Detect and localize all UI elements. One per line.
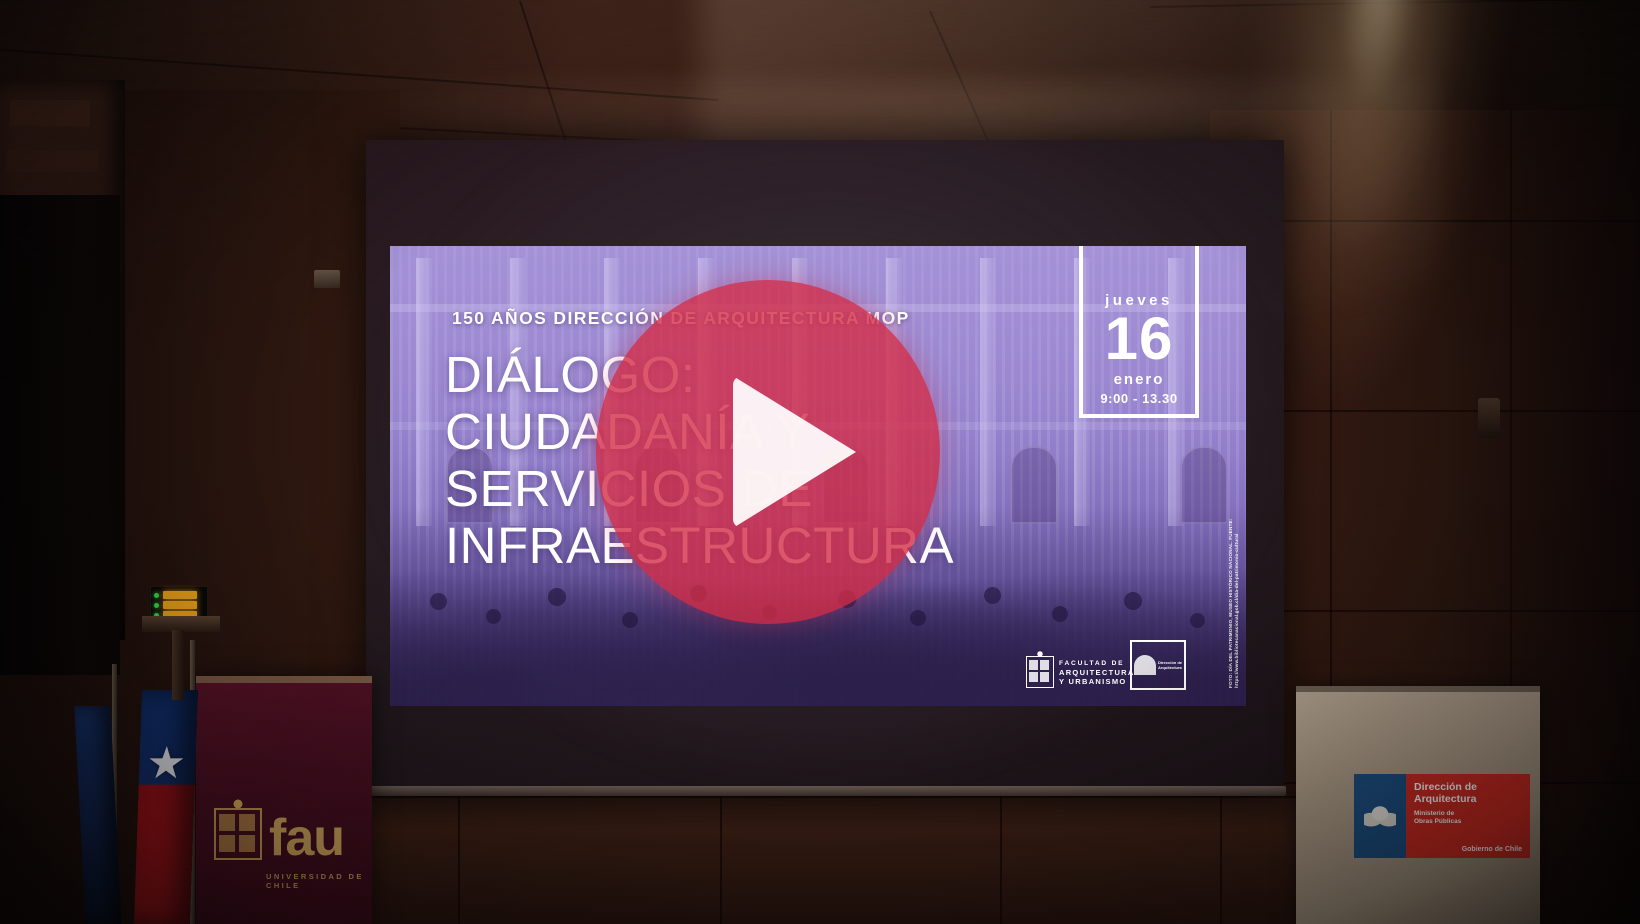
mop-logo-text-panel: Dirección de Arquitectura Ministerio de … bbox=[1406, 774, 1530, 858]
mop-slide-logo-text: Dirección de Arquitectura bbox=[1158, 660, 1182, 670]
mop-slide-logo-line-2: Arquitectura bbox=[1158, 665, 1182, 670]
indicator-bar bbox=[163, 601, 197, 609]
fau-wordmark: fau bbox=[269, 816, 344, 860]
fau-logo-line-2: ARQUITECTURA bbox=[1059, 668, 1135, 677]
status-led-icon bbox=[154, 603, 159, 608]
mop-slide-logo: Dirección de Arquitectura bbox=[1130, 640, 1186, 690]
screen-bottom-bar bbox=[364, 786, 1286, 796]
mop-title-line-2: Arquitectura bbox=[1414, 793, 1530, 805]
date-hours: 9:00 - 13.30 bbox=[1083, 391, 1195, 406]
screenshot-root: 150 AÑOS DIRECCIÓN DE ARQUITECTURA MOP D… bbox=[0, 0, 1640, 924]
universidad-de-chile-shield-icon bbox=[214, 808, 262, 860]
date-month: enero bbox=[1083, 371, 1195, 388]
gobierno-de-chile-logo: Dirección de Arquitectura Ministerio de … bbox=[1354, 774, 1530, 858]
dome-icon bbox=[1134, 655, 1156, 675]
fau-logo-line-3: Y URBANISMO bbox=[1059, 677, 1135, 686]
photo-credit-vertical: FOTO: DÍA DEL PATRIMONIO, MUSEO HISTÓRIC… bbox=[1228, 498, 1240, 688]
play-triangle-icon bbox=[733, 376, 856, 528]
mop-title-line-1: Dirección de bbox=[1414, 781, 1530, 793]
university-crest-icon bbox=[1026, 656, 1054, 688]
mop-pull-up-banner: Dirección de Arquitectura Ministerio de … bbox=[1296, 686, 1540, 924]
mop-subtitle-line-2: Obras Públicas bbox=[1414, 818, 1530, 826]
wall-speaker bbox=[1478, 398, 1500, 438]
date-day-number: 16 bbox=[1083, 311, 1195, 367]
coat-of-arms-icon bbox=[1364, 804, 1396, 828]
stage-curtain bbox=[0, 195, 120, 675]
podium-stem bbox=[172, 630, 184, 700]
status-led-icon bbox=[154, 593, 159, 598]
mop-subtitle-line-1: Ministerio de bbox=[1414, 810, 1530, 818]
fau-logo-line-1: FACULTAD DE bbox=[1059, 659, 1135, 668]
mop-footer: Gobierno de Chile bbox=[1462, 846, 1522, 853]
fau-logo-text: FACULTAD DE ARQUITECTURA Y URBANISMO bbox=[1059, 659, 1135, 686]
play-button[interactable] bbox=[596, 280, 940, 624]
fau-faculty-logo: FACULTAD DE ARQUITECTURA Y URBANISMO bbox=[1026, 656, 1135, 688]
chile-coat-of-arms-panel bbox=[1354, 774, 1406, 858]
fau-banner-logo: fau bbox=[214, 808, 344, 860]
event-date-box: jueves 16 enero 9:00 - 13.30 bbox=[1079, 246, 1199, 418]
indicator-bar bbox=[163, 591, 197, 599]
fau-pull-up-banner: fau UNIVERSIDAD DE CHILE bbox=[196, 676, 372, 924]
stage-front-panelling bbox=[360, 790, 1320, 924]
flag-star-icon: ★ bbox=[146, 742, 187, 786]
chile-flag: ★ bbox=[134, 690, 198, 924]
fau-banner-subtitle: UNIVERSIDAD DE CHILE bbox=[266, 872, 372, 890]
